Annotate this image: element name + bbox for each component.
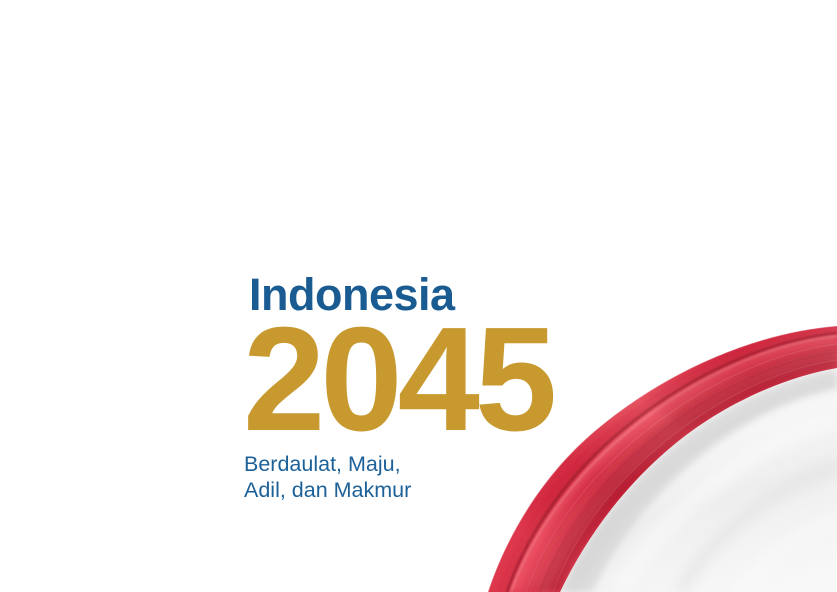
- cover-page: Indonesia 2045 Berdaulat, Maju, Adil, da…: [0, 0, 837, 592]
- title-block: Indonesia 2045 Berdaulat, Maju, Adil, da…: [243, 272, 573, 503]
- tagline-line-2: Adil, dan Makmur: [244, 478, 573, 503]
- brand-year: 2045: [243, 319, 573, 440]
